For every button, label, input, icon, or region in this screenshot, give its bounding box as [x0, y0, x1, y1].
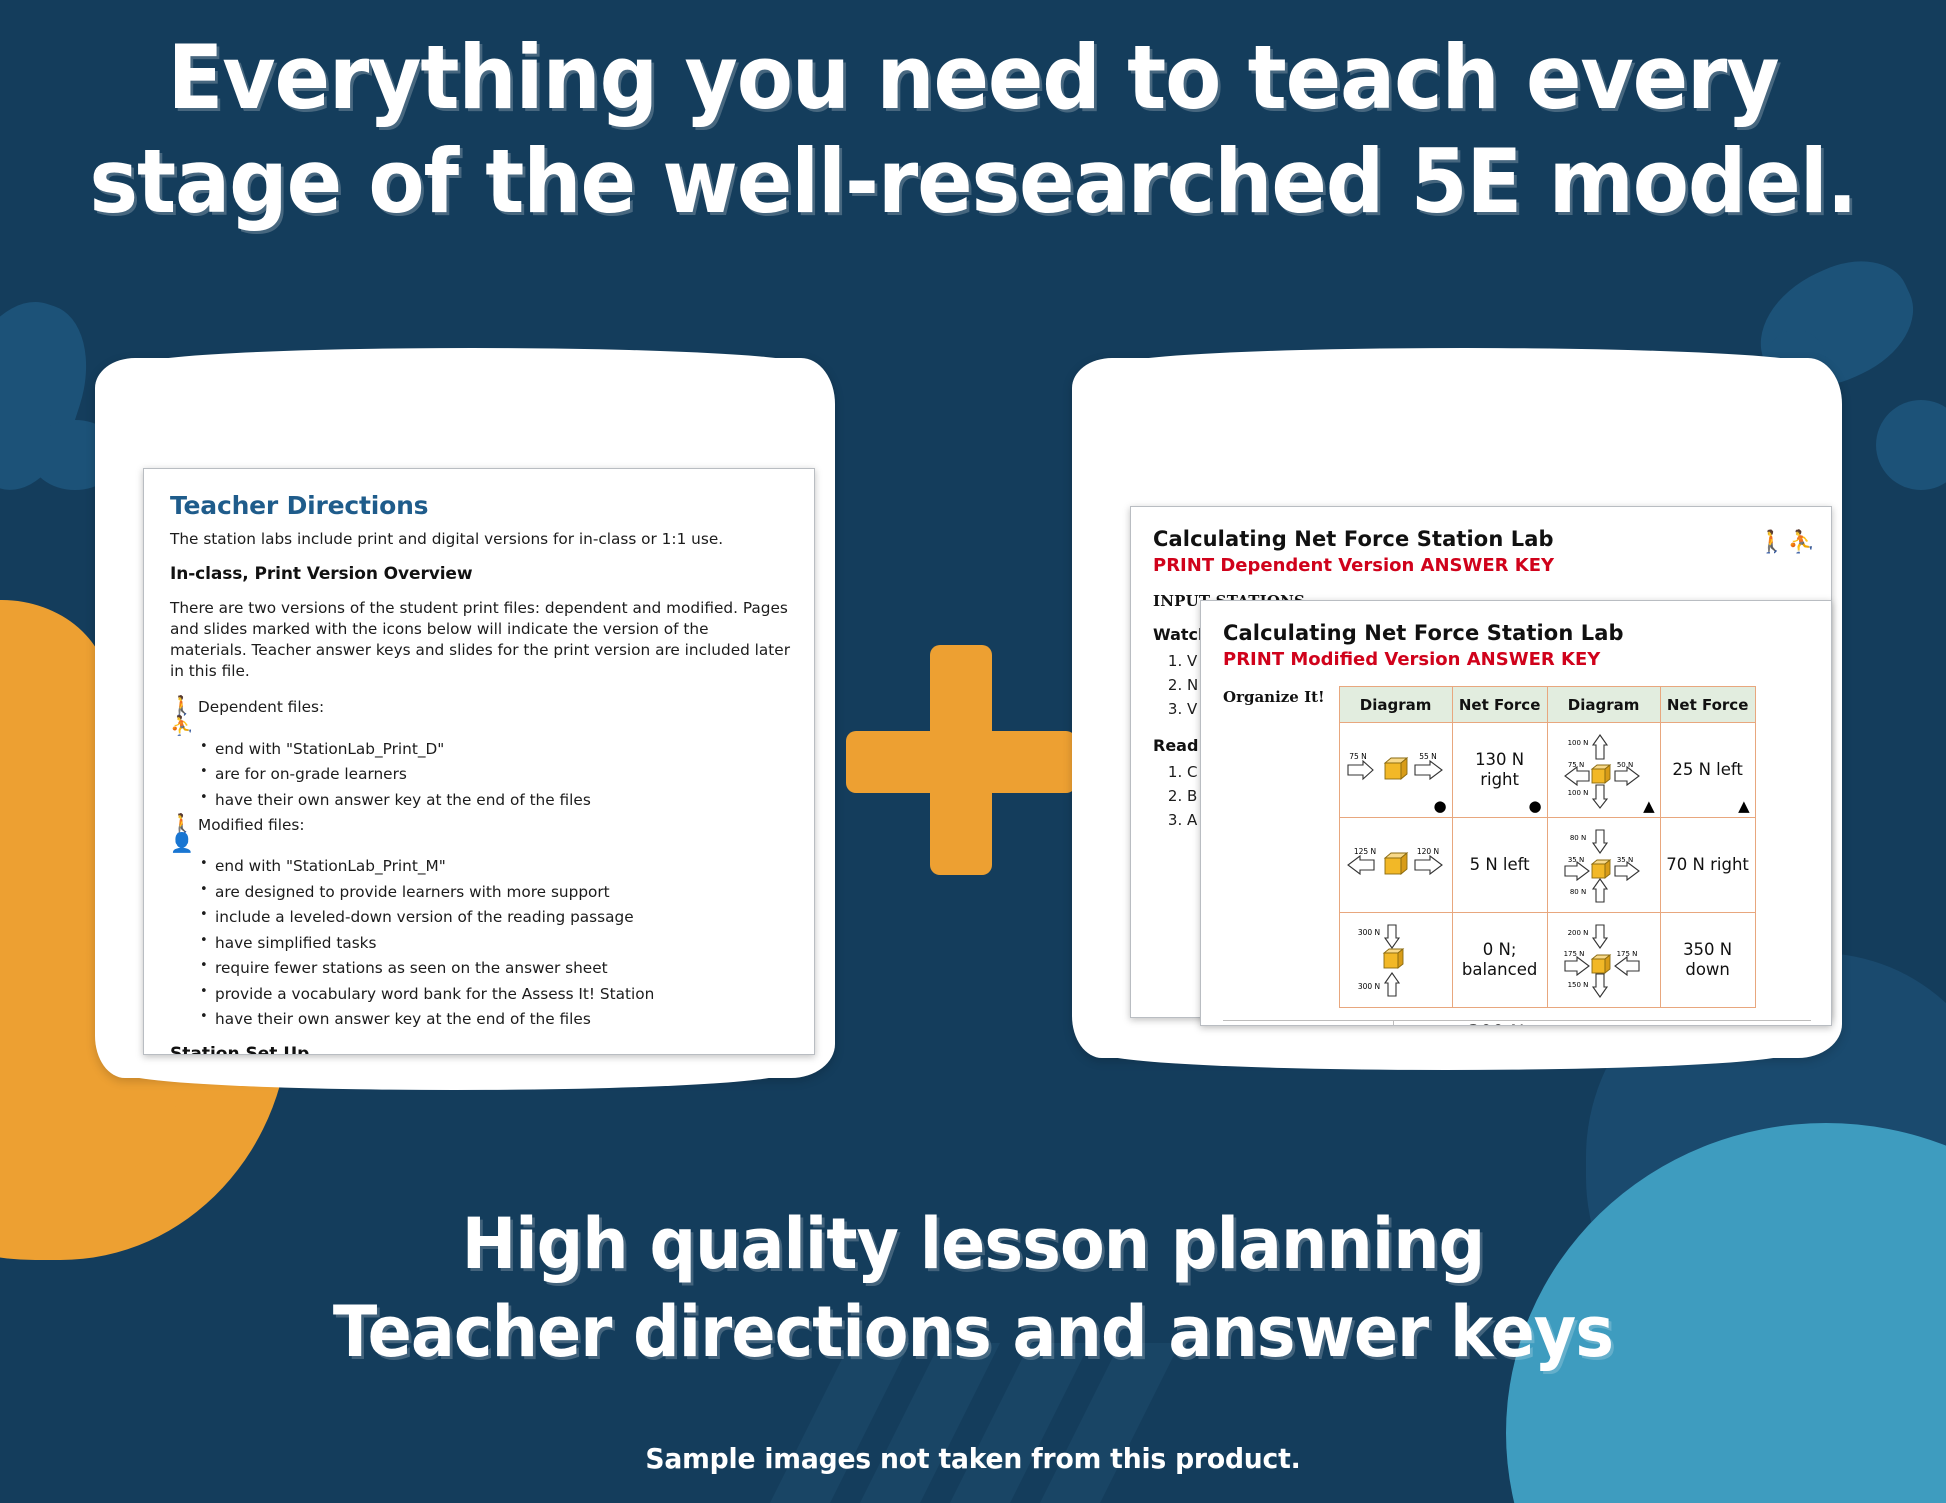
modified-answer-key-document[interactable]: Calculating Net Force Station Lab PRINT …: [1200, 600, 1832, 1026]
marker-dot-icon: ●: [1434, 799, 1447, 814]
svg-text:175 N: 175 N: [1563, 950, 1584, 958]
hikers-group-icon: 🚶 ⛹: [1758, 529, 1815, 555]
answer-value: 5 N left: [1470, 855, 1530, 874]
right-paper-card: 🚶 ⛹ Calculating Net Force Station Lab PR…: [1072, 358, 1842, 1058]
net-force-answer-table: Diagram Net Force Diagram Net Force: [1339, 686, 1756, 1008]
force-diagram-cell: 75 N 55 N: [1339, 723, 1452, 818]
answer-value: 130 N right: [1475, 750, 1524, 789]
answer-value: 350 N down: [1683, 940, 1732, 979]
net-force-answer-cell: 25 N left ▲: [1660, 723, 1755, 818]
svg-text:300 N: 300 N: [1357, 982, 1379, 991]
left-paper-card: Teacher Directions The station labs incl…: [95, 358, 835, 1078]
svg-text:80 N: 80 N: [1569, 888, 1585, 896]
force-diagram-four-way: 80 N 35 N: [1550, 826, 1658, 904]
table-row: 75 N 55 N: [1339, 723, 1755, 818]
footer-title: High quality lesson planning Teacher dir…: [68, 1200, 1878, 1376]
force-diagram-cell: 100 N 75 N: [1547, 723, 1660, 818]
svg-text:55 N: 55 N: [1419, 752, 1437, 761]
doc-subtitle: PRINT Modified Version ANSWER KEY: [1223, 649, 1811, 670]
force-diagram-cell: 300 N 300 N: [1339, 913, 1452, 1008]
force-diagram-four-way: 200 N 175 N: [1550, 921, 1658, 999]
disclaimer-text: Sample images not taken from this produc…: [49, 1442, 1898, 1475]
list-item: end with "StationLab_Print_M": [215, 856, 790, 877]
illustrate-it-text-block: Illustrate It! Student sketches should i…: [1223, 1021, 1394, 1026]
column-header-diagram-1: Diagram: [1339, 687, 1452, 723]
illustrate-it-figure: 300 N: [1394, 1021, 1811, 1026]
doc-subtitle: PRINT Dependent Version ANSWER KEY: [1153, 555, 1809, 576]
svg-text:75 N: 75 N: [1349, 752, 1367, 761]
force-diagram-cell: 80 N 35 N: [1547, 818, 1660, 913]
doc-title: Calculating Net Force Station Lab: [1153, 527, 1809, 551]
force-diagram-four-way: 100 N 75 N: [1550, 731, 1658, 809]
svg-text:300 N: 300 N: [1357, 928, 1379, 937]
svg-text:125 N: 125 N: [1353, 847, 1375, 856]
file-group-modified: 🚶 👤 Modified files:: [170, 816, 790, 855]
hikers-group-icon: 🚶 ⛹: [170, 697, 198, 737]
svg-text:100 N: 100 N: [1567, 789, 1588, 797]
list-item: have their own answer key at the end of …: [215, 1009, 790, 1030]
illustrate-it-section: Illustrate It! Student sketches should i…: [1223, 1020, 1811, 1026]
marker-triangle-icon: ▲: [1738, 799, 1750, 814]
list-item: have their own answer key at the end of …: [215, 790, 790, 811]
svg-text:35 N: 35 N: [1567, 856, 1583, 864]
decorative-blob-navy: [1876, 400, 1946, 490]
modified-bullet-list: end with "StationLab_Print_M" are design…: [170, 856, 790, 1030]
setup-heading: Station Set Up: [170, 1044, 790, 1055]
table-row: 300 N 300 N: [1339, 913, 1755, 1008]
svg-text:200 N: 200 N: [1567, 929, 1588, 937]
net-force-answer-cell: 5 N left: [1452, 818, 1547, 913]
list-item: require fewer stations as seen on the an…: [215, 958, 790, 979]
table-header-row: Diagram Net Force Diagram Net Force: [1339, 687, 1755, 723]
svg-text:120 N: 120 N: [1416, 847, 1438, 856]
page-title: Everything you need to teach every stage…: [68, 26, 1878, 234]
answer-value: 70 N right: [1666, 855, 1749, 874]
doc-lead-text: The station labs include print and digit…: [170, 529, 790, 550]
plus-icon: [846, 645, 1076, 875]
file-group-dependent: 🚶 ⛹ Dependent files:: [170, 698, 790, 737]
svg-text:80 N: 80 N: [1569, 834, 1585, 842]
hiker-with-guide-icon: 🚶 👤: [170, 815, 198, 855]
teacher-directions-document[interactable]: Teacher Directions The station labs incl…: [143, 468, 815, 1055]
force-diagram-cell: 200 N 175 N: [1547, 913, 1660, 1008]
net-force-answer-cell: 350 N down: [1660, 913, 1755, 1008]
list-item: are designed to provide learners with mo…: [215, 882, 790, 903]
marker-dot-icon: ●: [1529, 799, 1542, 814]
doc-title: Calculating Net Force Station Lab: [1223, 621, 1811, 645]
file-group-label: Dependent files:: [198, 698, 324, 716]
marker-triangle-icon: ▲: [1643, 799, 1655, 814]
force-diagram-vertical-balanced: 300 N 300 N: [1342, 921, 1450, 999]
net-force-answer-cell: 0 N; balanced: [1452, 913, 1547, 1008]
file-group-label: Modified files:: [198, 816, 305, 834]
answer-value: 25 N left: [1672, 760, 1743, 779]
net-force-answer-cell: 70 N right: [1660, 818, 1755, 913]
svg-text:35 N: 35 N: [1616, 856, 1632, 864]
net-force-answer-cell: 130 N right ●: [1452, 723, 1547, 818]
column-header-net-force-1: Net Force: [1452, 687, 1547, 723]
figure-force-label: 300 N: [1468, 1021, 1525, 1026]
overview-paragraph: There are two versions of the student pr…: [170, 598, 790, 682]
slide-canvas: Everything you need to teach every stage…: [0, 0, 1946, 1503]
list-item: are for on-grade learners: [215, 764, 790, 785]
svg-text:150 N: 150 N: [1567, 981, 1588, 989]
table-row: 125 N 120 N: [1339, 818, 1755, 913]
answer-value: 0 N; balanced: [1462, 940, 1537, 979]
list-item: include a leveled-down version of the re…: [215, 907, 790, 928]
organize-it-label: Organize It!: [1223, 688, 1325, 706]
column-header-net-force-2: Net Force: [1660, 687, 1755, 723]
list-item: have simplified tasks: [215, 933, 790, 954]
force-diagram-horizontal-left-right: 125 N 120 N: [1342, 826, 1450, 904]
list-item: end with "StationLab_Print_D": [215, 739, 790, 760]
column-header-diagram-2: Diagram: [1547, 687, 1660, 723]
doc-title: Teacher Directions: [170, 491, 790, 520]
list-item: provide a vocabulary word bank for the A…: [215, 984, 790, 1005]
svg-text:100 N: 100 N: [1567, 739, 1588, 747]
force-diagram-cell: 125 N 120 N: [1339, 818, 1452, 913]
svg-text:50 N: 50 N: [1616, 761, 1632, 769]
overview-heading: In-class, Print Version Overview: [170, 564, 790, 584]
dependent-bullet-list: end with "StationLab_Print_D" are for on…: [170, 739, 790, 811]
